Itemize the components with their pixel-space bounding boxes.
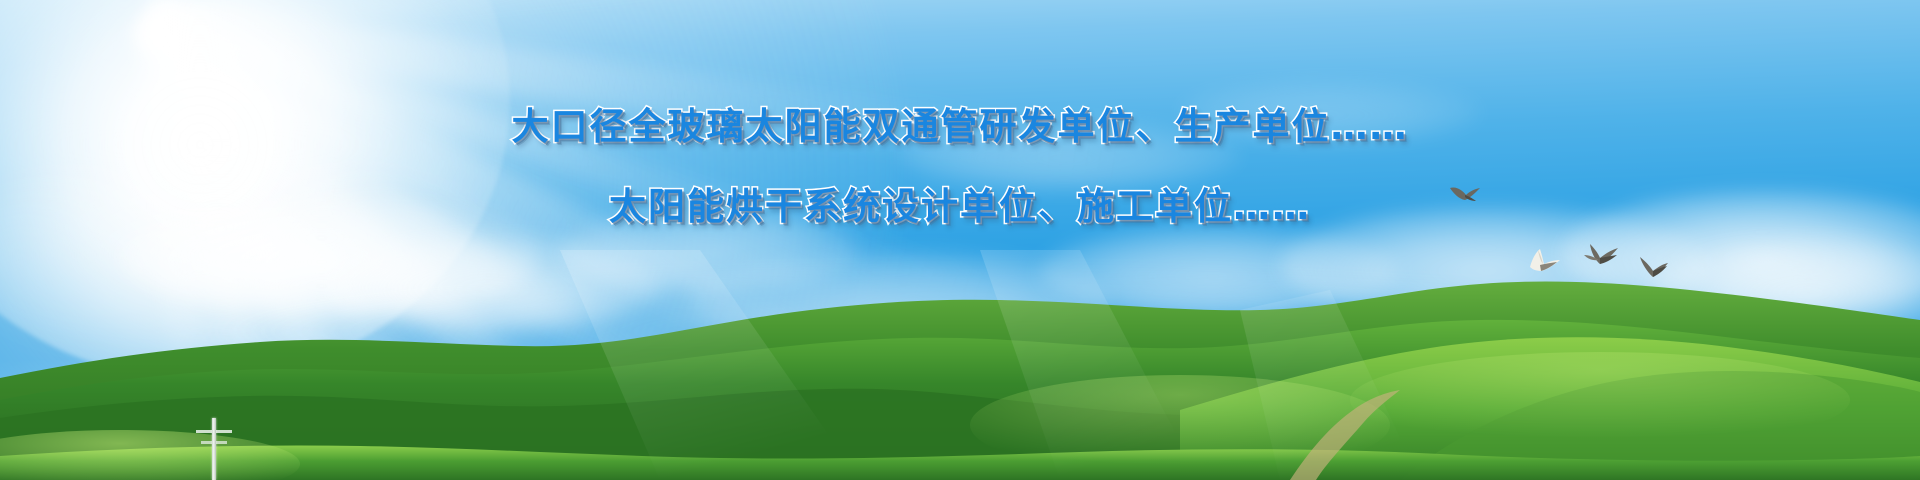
green-hills bbox=[0, 250, 1920, 480]
bird-1 bbox=[1448, 184, 1482, 206]
utility-pole bbox=[212, 418, 216, 480]
hero-banner: 大口径全玻璃太阳能双通管研发单位、生产单位…… 太阳能烘干系统设计单位、施工单位… bbox=[0, 0, 1920, 480]
